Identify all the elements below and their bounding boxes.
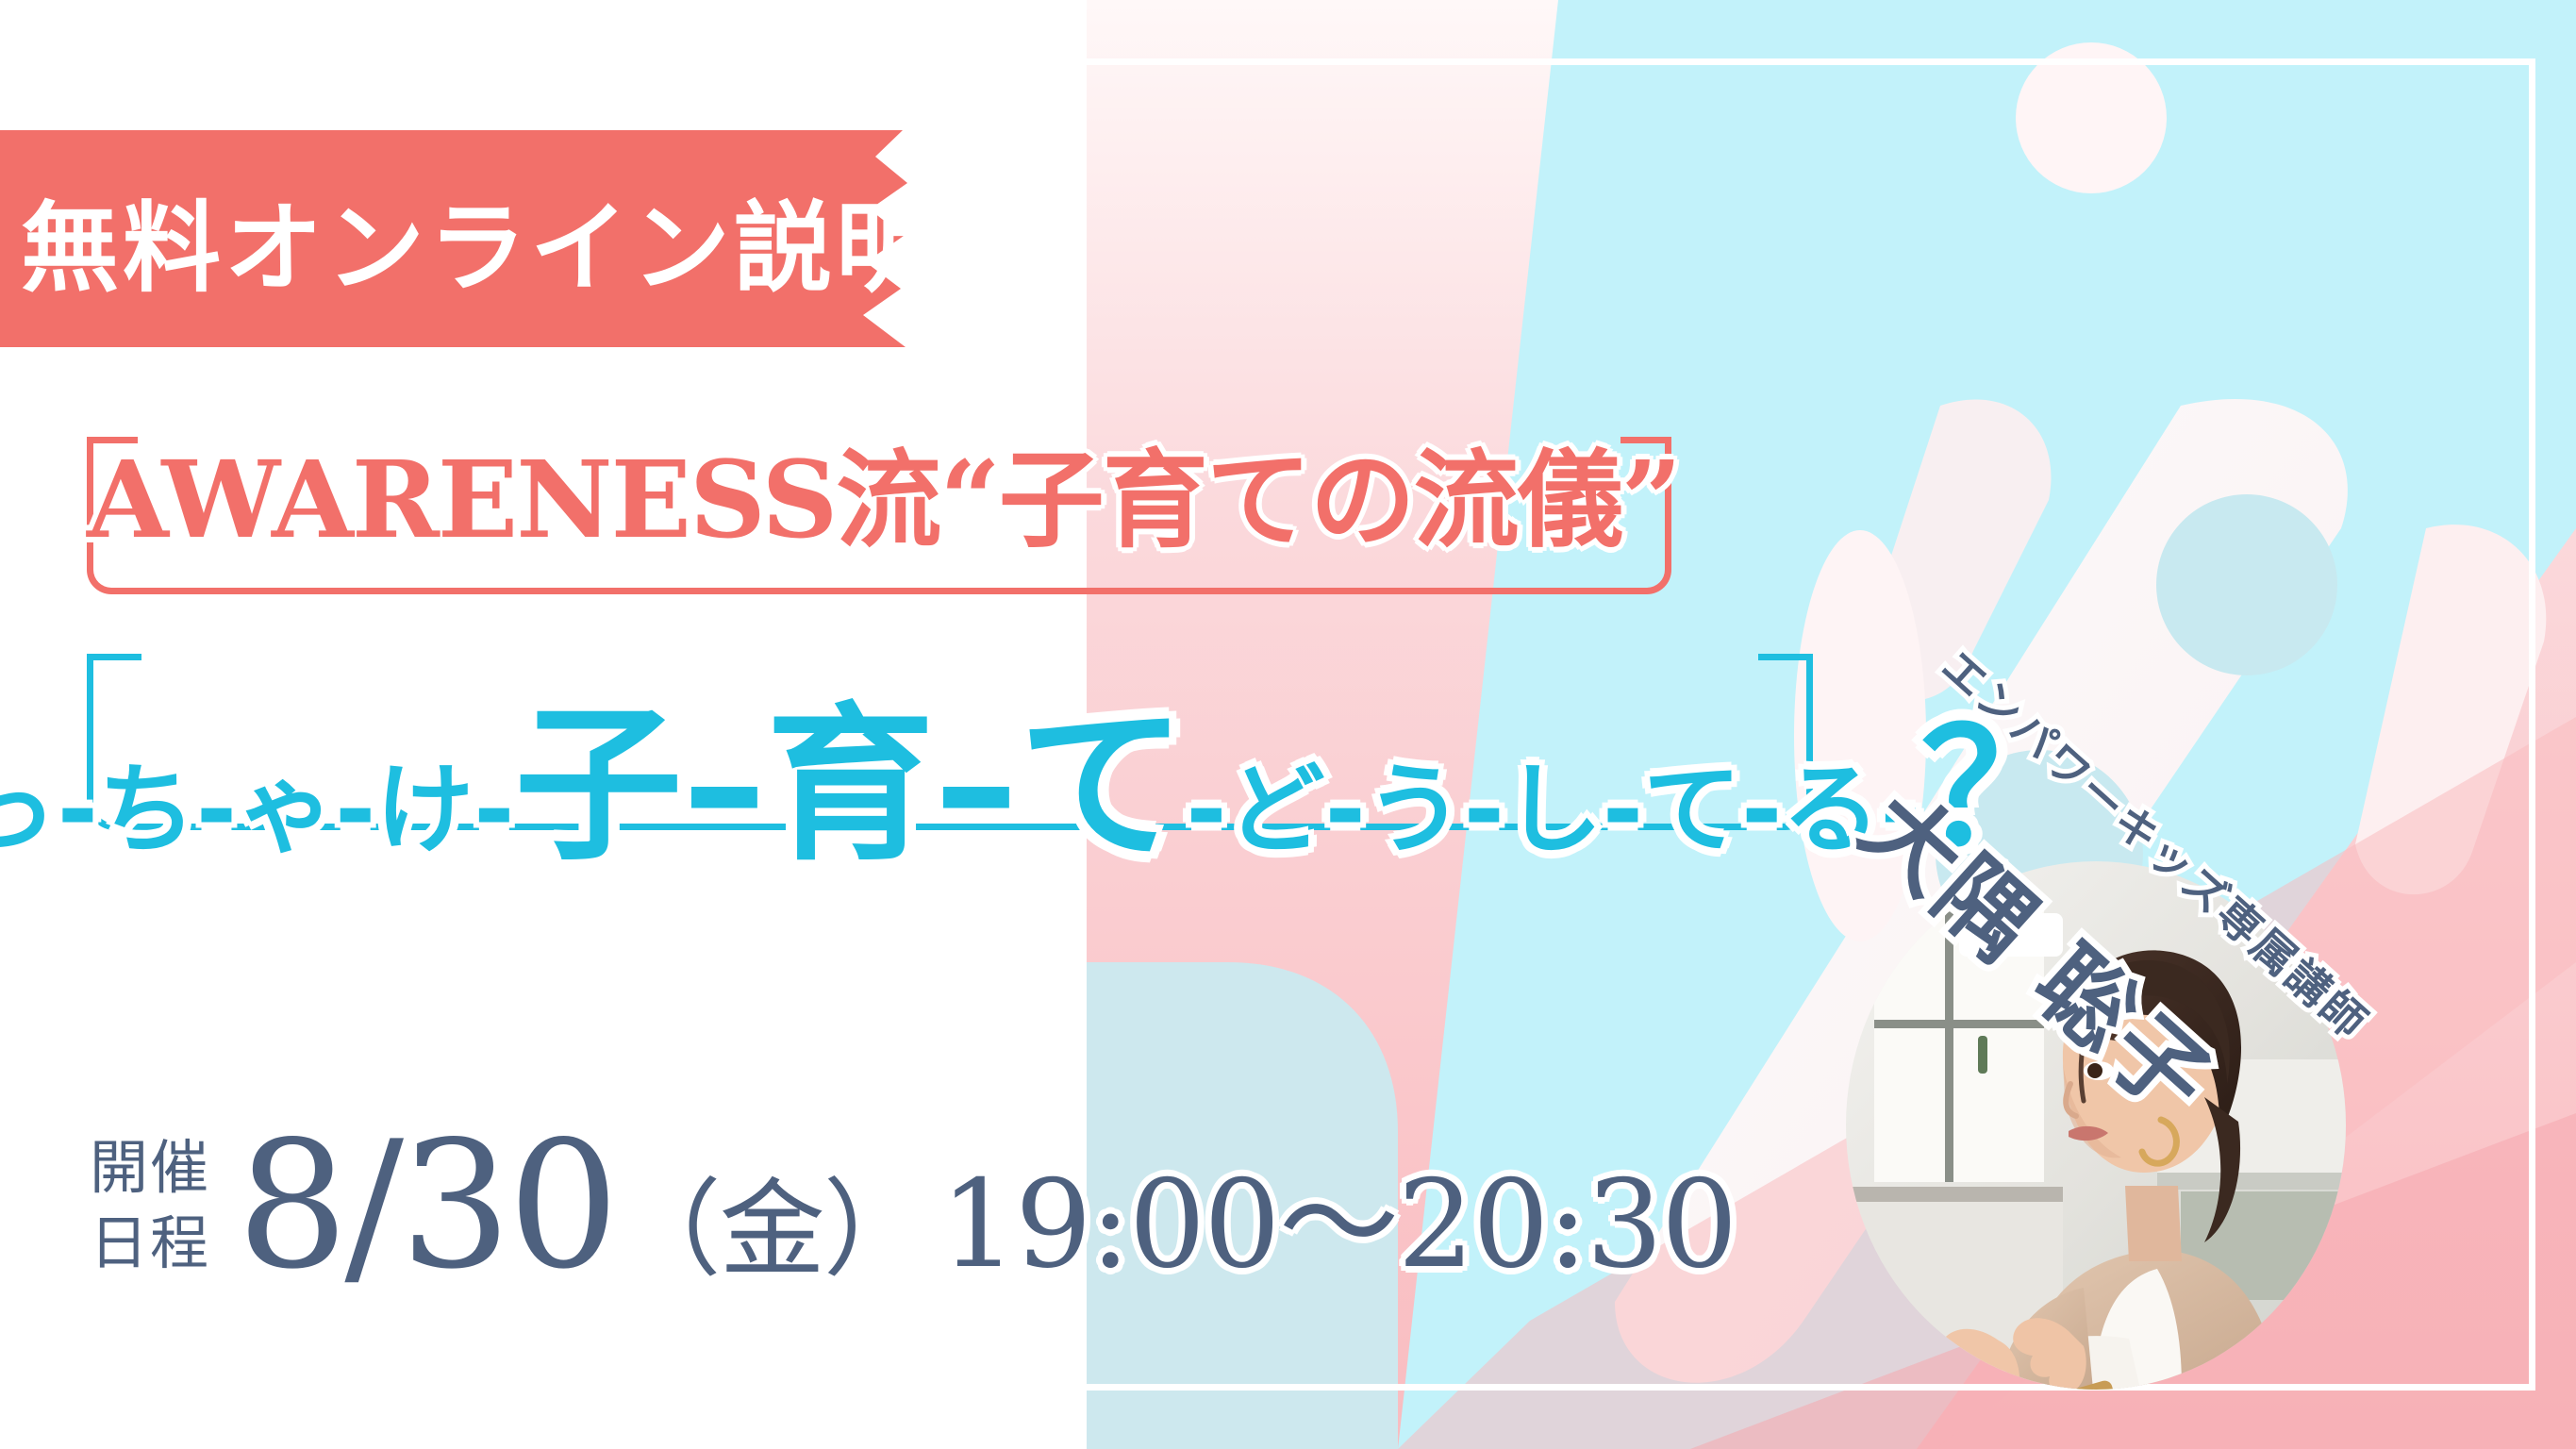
headline-primary-text: AWARENESS流“子育ての流儀” [87, 415, 1671, 568]
ribbon-label: 無料オンライン説明会 [21, 130, 1039, 347]
headline-primary-group: AWARENESS流“子育ての流儀” [87, 443, 1671, 594]
headline-secondary-text: ぶ-っ-ち-ゃ-け- 子–育–て -ど-う-し-て-る- ？ [87, 710, 1813, 872]
headline-secondary-part-2: 子–育–て [514, 710, 1186, 861]
date-day: 8/30 [237, 1118, 616, 1293]
date-weekday: （金） [616, 1177, 927, 1283]
headline-secondary-part-3: -ど-う-し-て-る- [1186, 729, 1920, 872]
date-label-group: 開催 日程 [90, 1139, 210, 1273]
date-value-group: 8/30 （金） 19:00〜20:30 [237, 1118, 1736, 1293]
promo-banner: 無料オンライン説明会 AWARENESS流“子育ての流儀” ぶ-っ-ち-ゃ-け-… [0, 0, 2576, 1449]
free-seminar-ribbon: 無料オンライン説明会 [0, 130, 962, 347]
date-label-line-1: 開催 [90, 1139, 210, 1197]
headline-secondary-group: ぶ-っ-ち-ゃ-け- 子–育–て -ど-う-し-て-る- ？ [87, 660, 1813, 830]
date-time: 19:00〜20:30 [940, 1165, 1737, 1286]
headline-secondary-part-1: ぶ-っ-ち-ゃ-け- [0, 729, 514, 872]
date-label-line-2: 日程 [90, 1214, 210, 1273]
event-date-block: 開催 日程 8/30 （金） 19:00〜20:30 [90, 1118, 1736, 1293]
